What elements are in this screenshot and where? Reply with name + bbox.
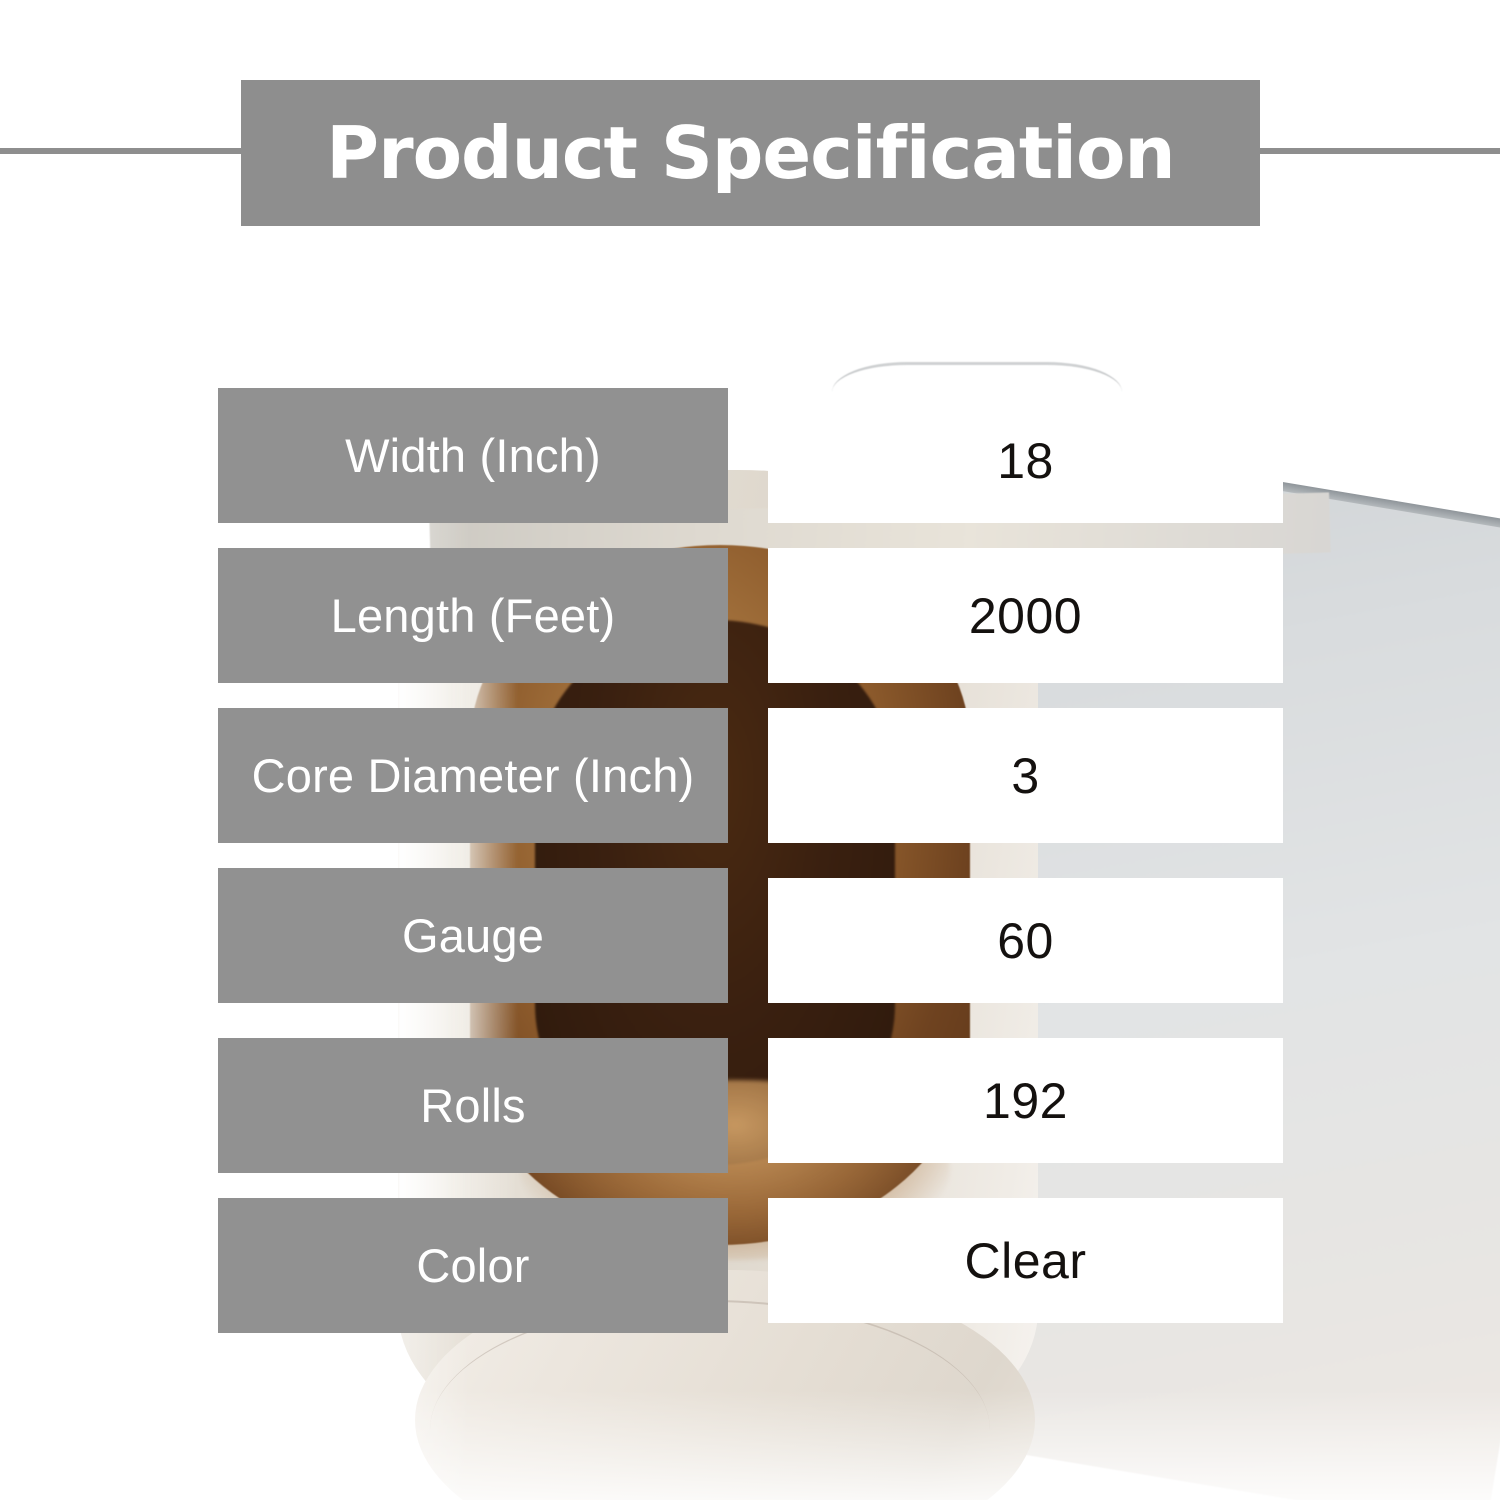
spec-value-cell: 18: [768, 398, 1283, 523]
spec-label-cell: Length (Feet): [218, 548, 728, 683]
spec-label-cell: Color: [218, 1198, 728, 1333]
spec-value-text: 60: [997, 916, 1054, 966]
spec-value-text: 192: [983, 1076, 1068, 1126]
spec-label-text: Length (Feet): [317, 593, 630, 638]
spec-value-cell: 3: [768, 708, 1283, 843]
spec-label-text: Core Diameter (Inch): [238, 753, 709, 798]
specification-table: Width (Inch)18Length (Feet)2000Core Diam…: [0, 0, 1500, 1500]
spec-label-text: Color: [402, 1243, 543, 1288]
spec-value-cell: 60: [768, 878, 1283, 1003]
spec-value-cell: 192: [768, 1038, 1283, 1163]
spec-value-text: 2000: [969, 591, 1082, 641]
spec-label-text: Width (Inch): [331, 433, 615, 478]
spec-value-cell: 2000: [768, 548, 1283, 683]
product-specification-page: Product Specification Width (Inch)18Leng…: [0, 0, 1500, 1500]
spec-value-text: Clear: [965, 1236, 1087, 1286]
spec-label-text: Rolls: [406, 1083, 539, 1128]
spec-label-cell: Core Diameter (Inch): [218, 708, 728, 843]
spec-label-cell: Rolls: [218, 1038, 728, 1173]
spec-label-cell: Width (Inch): [218, 388, 728, 523]
spec-value-cell: Clear: [768, 1198, 1283, 1323]
spec-value-text: 3: [1011, 751, 1039, 801]
spec-label-text: Gauge: [388, 913, 558, 958]
spec-label-cell: Gauge: [218, 868, 728, 1003]
spec-value-text: 18: [997, 436, 1054, 486]
